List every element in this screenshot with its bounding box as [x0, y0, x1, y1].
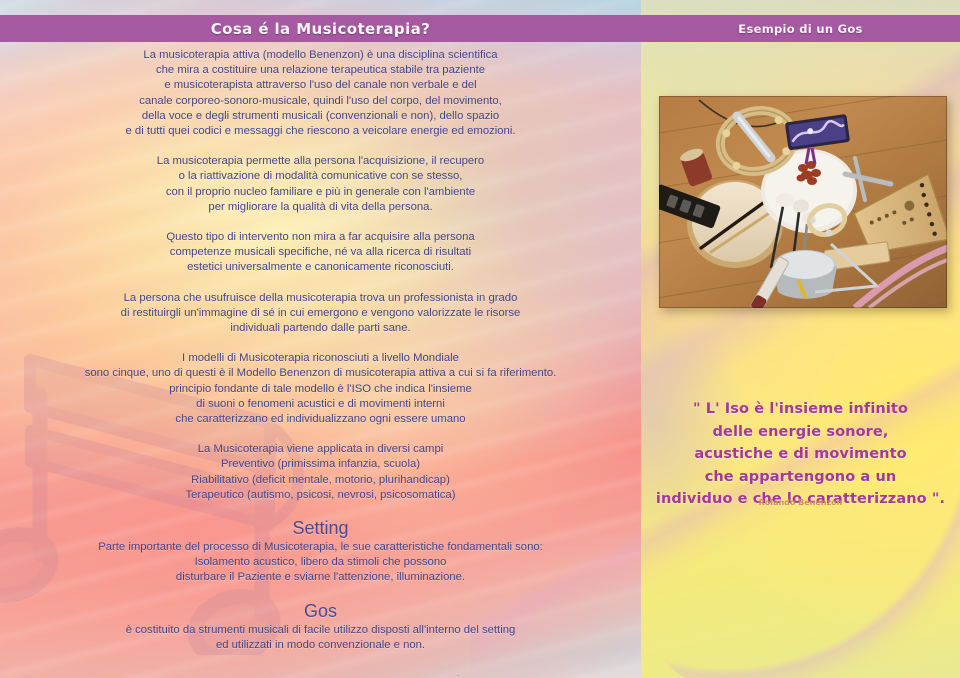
text-line: o la riattivazione di modalità comunicat…: [21, 169, 621, 184]
main-text-column: La musicoterapia attiva (modello Benenzo…: [0, 48, 641, 648]
quote-line: che appartengono a un: [641, 466, 960, 489]
text-line: La Musicoterapia viene applicata in dive…: [21, 442, 621, 457]
text-line: con il proprio nucleo familiare e più in…: [21, 185, 621, 200]
text-line: di suoni o fenomeni acustici e di movime…: [21, 397, 621, 412]
text-line: della voce e degli strumenti musicali (c…: [21, 109, 621, 124]
text-line: estetici universalmente e canonicamente …: [21, 260, 621, 275]
text-line: Parte importante del processo di Musicot…: [21, 540, 621, 555]
quote-text: " L' Iso è l'insieme infinito delle ener…: [641, 398, 960, 511]
text-line: individuali partendo dalle parti sane.: [21, 321, 621, 336]
quote-line: " L' Iso è l'insieme infinito: [641, 398, 960, 421]
text-line: competenze musicali specifiche, né va al…: [21, 245, 621, 260]
text-line: Isolamento acustico, libero da stimoli c…: [21, 555, 621, 570]
paragraph-setting: Parte importante del processo di Musicot…: [21, 540, 621, 586]
paragraph-definizione: La musicoterapia attiva (modello Benenzo…: [21, 48, 621, 139]
paragraph-intervento: Questo tipo di intervento non mira a far…: [21, 230, 621, 276]
text-line: e di tutti quei codici e messaggi che ri…: [21, 124, 621, 139]
text-line: sono cinque, uno di questi è il Modello …: [21, 366, 621, 381]
text-line: e musicoterapista attraverso l'uso del c…: [21, 78, 621, 93]
heading-gos: Gos: [0, 600, 641, 623]
text-line: Questo tipo di intervento non mira a far…: [21, 230, 621, 245]
text-line: Preventivo (primissima infanzia, scuola): [21, 457, 621, 472]
text-line: I modelli di Musicoterapia riconosciuti …: [21, 351, 621, 366]
section-subtitle: Esempio di un Gos: [641, 15, 960, 42]
text-line: La persona che usufruisce della musicote…: [21, 291, 621, 306]
text-line: è costituito da strumenti musicali di fa…: [21, 623, 621, 638]
slide-page: Cosa é la Musicoterapia? Esempio di un G…: [0, 0, 960, 678]
text-line: ed utilizzati in modo convenzionale e no…: [21, 638, 621, 653]
text-line: principio fondante di tale modello è l'I…: [21, 382, 621, 397]
instruments-photo: [659, 96, 947, 308]
text-line: di restituirgli un'immagine di sé in cui…: [21, 306, 621, 321]
text-line: Terapeutico (autismo, psicosi, nevrosi, …: [21, 488, 621, 503]
text-line: che mira a costituire una relazione tera…: [21, 63, 621, 78]
instruments-photo-image: [659, 96, 947, 308]
text-line: per migliorare la qualità di vita della …: [21, 200, 621, 215]
paragraph-modelli: I modelli di Musicoterapia riconosciuti …: [21, 351, 621, 427]
text-line: disturbare il Paziente e sviarne l'atten…: [21, 570, 621, 585]
page-title: Cosa é la Musicoterapia?: [0, 15, 641, 42]
quote-author: Rolando Benenzon: [641, 498, 960, 507]
quote-line: acustiche e di movimento: [641, 443, 960, 466]
text-line: La musicoterapia permette alla persona l…: [21, 154, 621, 169]
heading-setting: Setting: [0, 517, 641, 540]
text-line: Riabilitativo (deficit mentale, motorio,…: [21, 473, 621, 488]
paragraph-campi: La Musicoterapia viene applicata in dive…: [21, 442, 621, 503]
paragraph-gos: è costituito da strumenti musicali di fa…: [21, 623, 621, 653]
text-line: La musicoterapia attiva (modello Benenzo…: [21, 48, 621, 63]
paragraph-acquisizione: La musicoterapia permette alla persona l…: [21, 154, 621, 215]
text-line: canale corporeo-sonoro-musicale, quindi …: [21, 94, 621, 109]
paragraph-professionista: La persona che usufruisce della musicote…: [21, 291, 621, 337]
quote-line: delle energie sonore,: [641, 421, 960, 444]
footer-mark: .: [455, 672, 461, 677]
text-line: che caratterizzano ed individualizzano o…: [21, 412, 621, 427]
